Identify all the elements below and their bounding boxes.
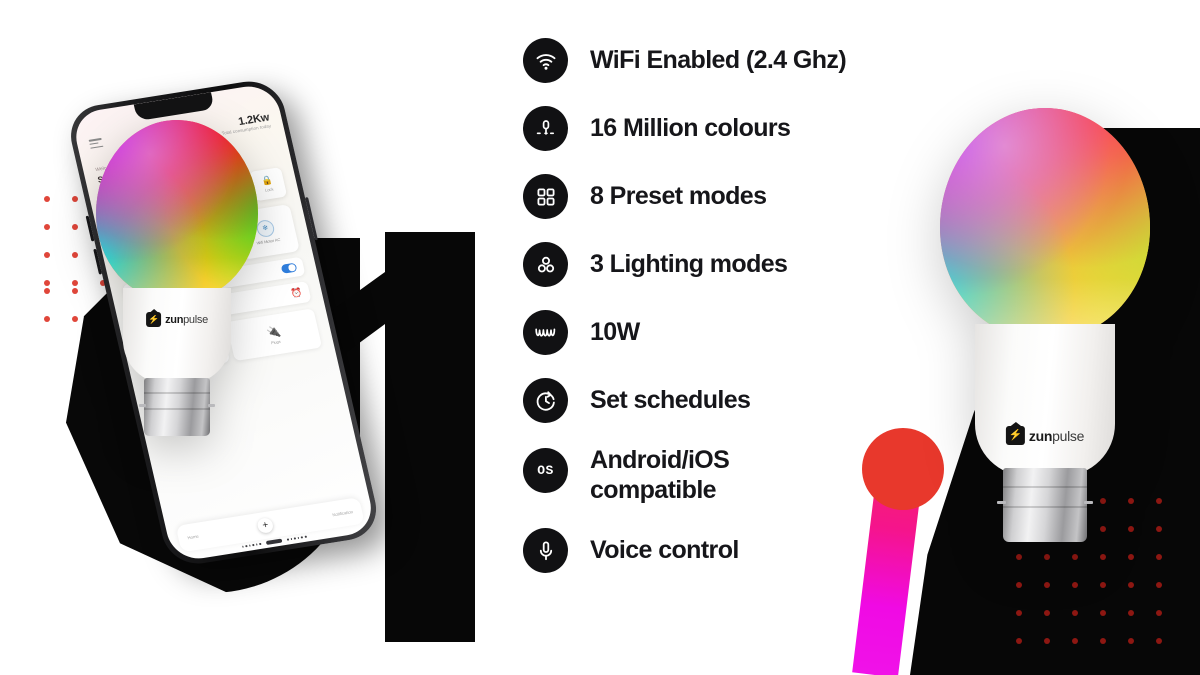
smart-bulb-right: ⚡ zunpulse (940, 108, 1150, 528)
feature-item-schedules: Set schedules (523, 378, 923, 423)
dot (1016, 610, 1022, 616)
dot (1016, 582, 1022, 588)
dot (1156, 526, 1162, 532)
poster-canvas: 1.2Kw Total consumption today Welcome ho… (0, 0, 1200, 675)
bulb-neck (123, 288, 231, 384)
dot (1156, 638, 1162, 644)
dot (1044, 638, 1050, 644)
feature-label: 8 Preset modes (590, 182, 766, 212)
dot (1100, 554, 1106, 560)
bulb-b22-base (1003, 468, 1087, 542)
alarm-icon: ⏰ (290, 287, 304, 299)
feature-label: WiFi Enabled (2.4 Ghz) (590, 46, 846, 76)
three-circles-icon (523, 242, 568, 287)
bulb-neck (975, 324, 1115, 476)
wifi-icon (523, 38, 568, 83)
feature-label: Android/iOS compatible (590, 446, 729, 505)
feature-label: Set schedules (590, 386, 750, 416)
dot (1072, 582, 1078, 588)
feature-item-lighting-modes: 3 Lighting modes (523, 242, 923, 287)
bottom-card-label: Plugs (271, 339, 281, 344)
add-device-button[interactable]: + (256, 517, 274, 534)
dot (72, 224, 78, 230)
dot (1072, 638, 1078, 644)
lock-icon: 🔒 (261, 176, 274, 187)
scene-card-label: Wifi Motor AC (256, 237, 281, 245)
bulb-dome (96, 120, 258, 300)
dot (1044, 610, 1050, 616)
bulb-brand-logo: ⚡ zunpulse (1006, 426, 1084, 445)
dot (44, 288, 50, 294)
zunpulse-house-bolt-icon: ⚡ (1006, 426, 1025, 445)
feature-label: 10W (590, 318, 640, 348)
red-dot-grid-left-lower (44, 288, 84, 348)
dot (1128, 554, 1134, 560)
os-badge-text: OS (537, 463, 554, 478)
dot (1156, 498, 1162, 504)
dot (72, 252, 78, 258)
dot (72, 288, 78, 294)
bulb-brand-logo: ⚡ zunpulse (146, 312, 208, 327)
waveform-icon (523, 310, 568, 355)
device-toggle[interactable] (281, 263, 298, 274)
feature-list: WiFi Enabled (2.4 Ghz) 16 Million colour… (523, 38, 923, 596)
zunpulse-house-bolt-icon: ⚡ (146, 312, 161, 327)
dot (1016, 554, 1022, 560)
dot (1044, 582, 1050, 588)
dot (1128, 638, 1134, 644)
dot (44, 252, 50, 258)
feature-label: Voice control (590, 536, 739, 566)
dot (1044, 554, 1050, 560)
feature-label: 16 Million colours (590, 114, 790, 144)
zunpulse-wordmark: zunpulse (165, 314, 208, 326)
feature-item-voice-control: Voice control (523, 528, 923, 573)
dot (1072, 610, 1078, 616)
bulb-dome (940, 108, 1150, 338)
dot (1016, 638, 1022, 644)
zunpulse-wordmark: zunpulse (1029, 428, 1084, 444)
dot (1156, 610, 1162, 616)
dot (1128, 582, 1134, 588)
dot (1128, 610, 1134, 616)
feature-label: 3 Lighting modes (590, 250, 787, 280)
feature-item-colours: 16 Million colours (523, 106, 923, 151)
smart-bulb-left: ⚡ zunpulse (96, 120, 258, 410)
os-badge-icon: OS (523, 448, 568, 493)
bulb-b22-base (144, 378, 210, 436)
clock-refresh-icon (523, 378, 568, 423)
color-bulb-icon (523, 106, 568, 151)
feature-item-preset-modes: 8 Preset modes (523, 174, 923, 219)
dot (44, 196, 50, 202)
left-product-scene: 1.2Kw Total consumption today Welcome ho… (0, 0, 520, 675)
dot (44, 224, 50, 230)
microphone-icon (523, 528, 568, 573)
dot (1100, 638, 1106, 644)
feature-item-wifi: WiFi Enabled (2.4 Ghz) (523, 38, 923, 83)
dot (72, 196, 78, 202)
dot (1156, 582, 1162, 588)
dot (1072, 554, 1078, 560)
dot (72, 316, 78, 322)
dot (44, 316, 50, 322)
dot (1156, 554, 1162, 560)
dot (72, 280, 78, 286)
grid-squares-icon (523, 174, 568, 219)
nav-home-label[interactable]: Home (187, 534, 199, 541)
feature-item-wattage: 10W (523, 310, 923, 355)
dot (44, 280, 50, 286)
quick-tile-label: Lock (264, 186, 273, 192)
dot (1100, 610, 1106, 616)
snowflake-icon: ❄ (255, 218, 276, 237)
nav-notification-label[interactable]: Notification (332, 509, 354, 517)
dot (1100, 582, 1106, 588)
plug-icon: 🔌 (265, 324, 281, 339)
feature-item-os-compatible: OS Android/iOS compatible (523, 446, 923, 505)
